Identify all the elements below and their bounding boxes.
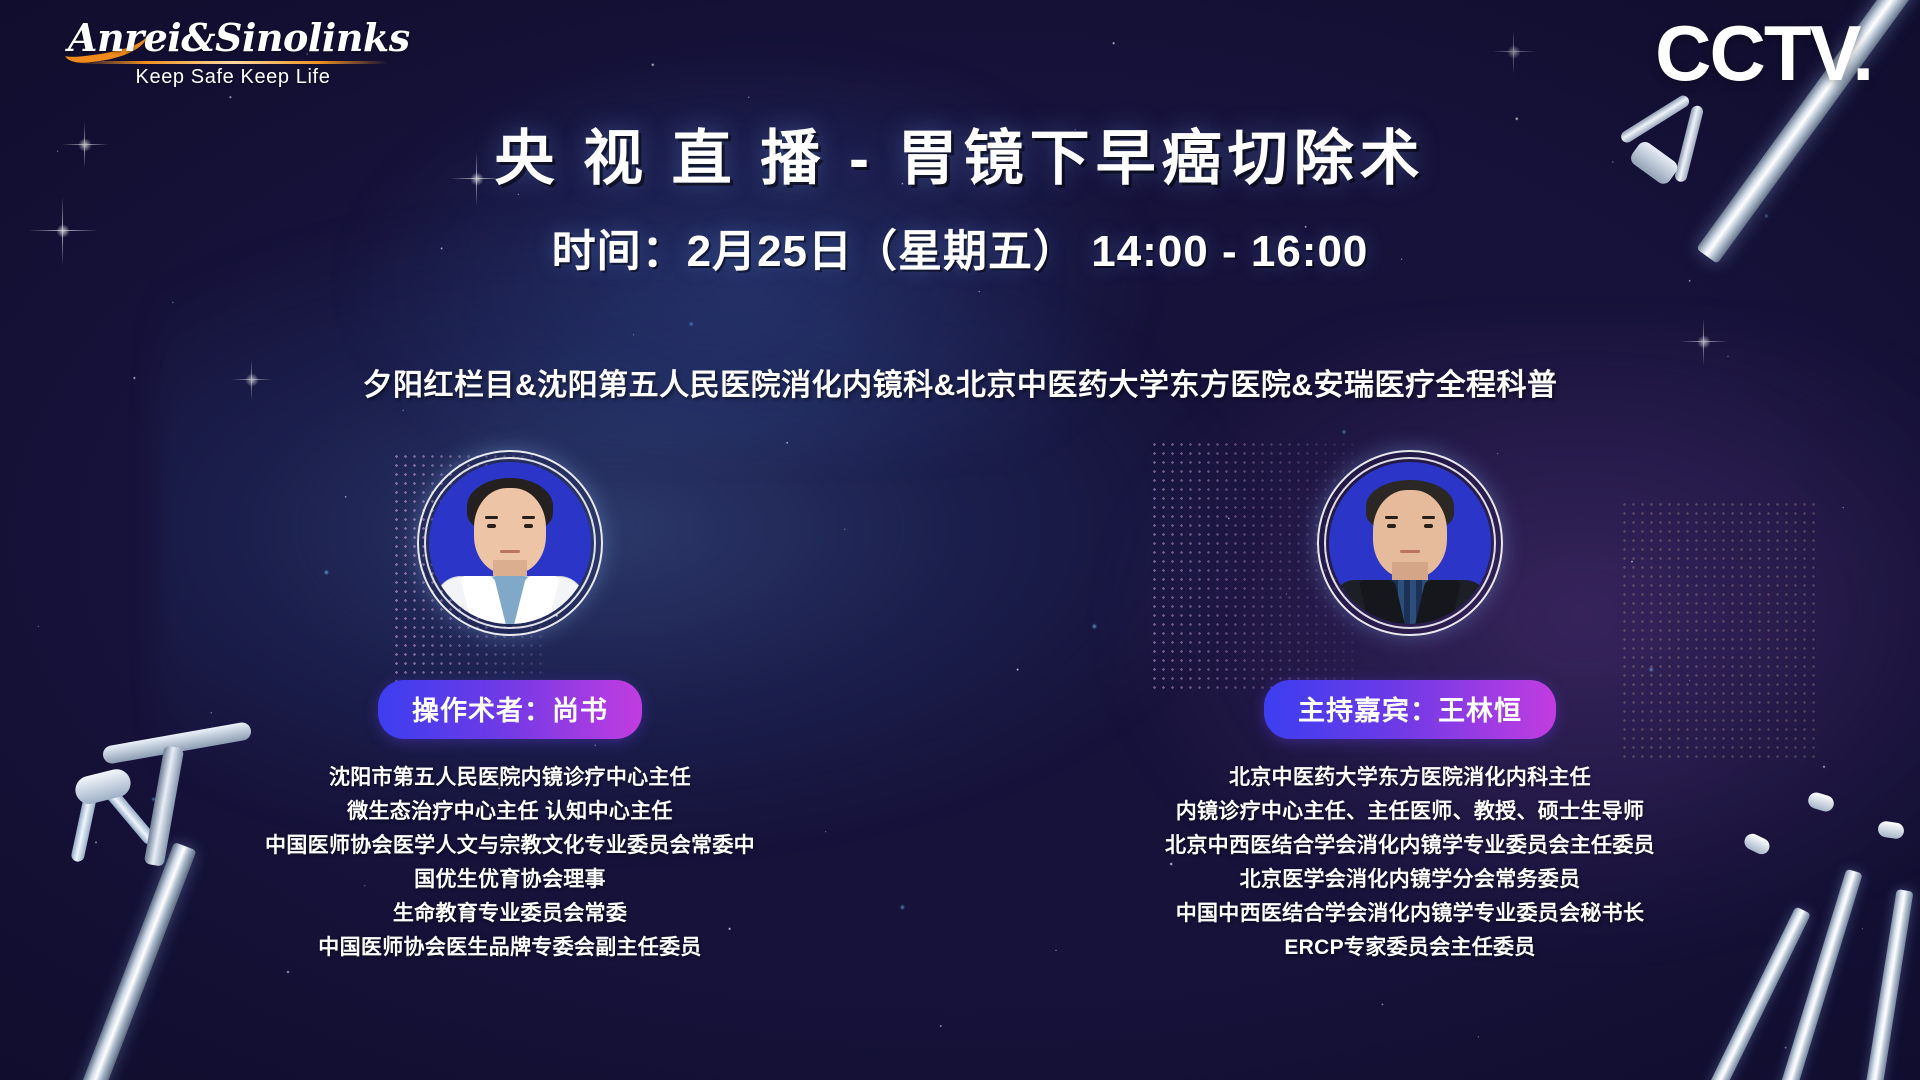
brand-logo: Anrei&Sinolinks Keep Safe Keep Life [68, 18, 398, 89]
credential-line: 沈阳市第五人民医院内镜诊疗中心主任 [260, 761, 760, 795]
page-title: 央 视 直 播 - 胃镜下早癌切除术 [0, 124, 1920, 193]
credential-line: 国优生优育协会理事 [260, 863, 760, 897]
credential-line: ERCP专家委员会主任委员 [1160, 931, 1660, 965]
avatar-photo [1329, 462, 1491, 624]
speaker-card-host: 主持嘉宾：王林恒 北京中医药大学东方医院消化内科主任 内镜诊疗中心主任、主任医师… [1160, 450, 1660, 965]
credential-line: 北京中西医结合学会消化内镜学专业委员会主任委员 [1160, 829, 1660, 863]
avatar-photo [429, 462, 591, 624]
credential-line: 中国医师协会医生品牌专委会副主任委员 [260, 931, 760, 965]
credential-line: 中国医师协会医学人文与宗教文化专业委员会常委中 [260, 829, 760, 863]
speaker-card-operator: 操作术者：尚书 沈阳市第五人民医院内镜诊疗中心主任 微生态治疗中心主任 认知中心… [260, 450, 760, 965]
credential-line: 生命教育专业委员会常委 [260, 897, 760, 931]
poster-canvas: Anrei&Sinolinks Keep Safe Keep Life CCTV… [0, 0, 1920, 1080]
event-datetime: 时间：2月25日（星期五） 14:00 - 16:00 [0, 215, 1920, 279]
portrait-brow [485, 516, 498, 519]
speakers-row: 操作术者：尚书 沈阳市第五人民医院内镜诊疗中心主任 微生态治疗中心主任 认知中心… [0, 450, 1920, 965]
brand-name: Anrei&Sinolinks [68, 18, 398, 58]
portrait-brow [522, 516, 535, 519]
headline-block: 央 视 直 播 - 胃镜下早癌切除术 时间：2月25日（星期五） 14:00 -… [0, 124, 1920, 279]
portrait-eye [524, 524, 533, 528]
credential-line: 内镜诊疗中心主任、主任医师、教授、硕士生导师 [1160, 795, 1660, 829]
speaker-credentials: 北京中医药大学东方医院消化内科主任 内镜诊疗中心主任、主任医师、教授、硕士生导师… [1160, 761, 1660, 965]
brand-tagline: Keep Safe Keep Life [68, 66, 398, 89]
credential-line: 北京中医药大学东方医院消化内科主任 [1160, 761, 1660, 795]
portrait-brow [1385, 516, 1398, 519]
portrait-mouth [1400, 550, 1420, 553]
speaker-role-badge: 操作术者：尚书 [378, 680, 642, 739]
portrait-eye [1424, 524, 1433, 528]
credential-line: 微生态治疗中心主任 认知中心主任 [260, 795, 760, 829]
cctv-logo: CCTV. [1655, 14, 1872, 92]
portrait-eye [1387, 524, 1396, 528]
avatar [417, 450, 603, 636]
credential-line: 北京医学会消化内镜学分会常务委员 [1160, 863, 1660, 897]
speaker-credentials: 沈阳市第五人民医院内镜诊疗中心主任 微生态治疗中心主任 认知中心主任 中国医师协… [260, 761, 760, 965]
avatar [1317, 450, 1503, 636]
portrait-brow [1422, 516, 1435, 519]
portrait-mouth [500, 550, 520, 553]
speaker-role-badge: 主持嘉宾：王林恒 [1264, 680, 1556, 739]
portrait-eye [487, 524, 496, 528]
partners-line: 夕阳红栏目&沈阳第五人民医院消化内镜科&北京中医药大学东方医院&安瑞医疗全程科普 [0, 360, 1920, 404]
credential-line: 中国中西医结合学会消化内镜学专业委员会秘书长 [1160, 897, 1660, 931]
brand-divider [78, 61, 388, 64]
